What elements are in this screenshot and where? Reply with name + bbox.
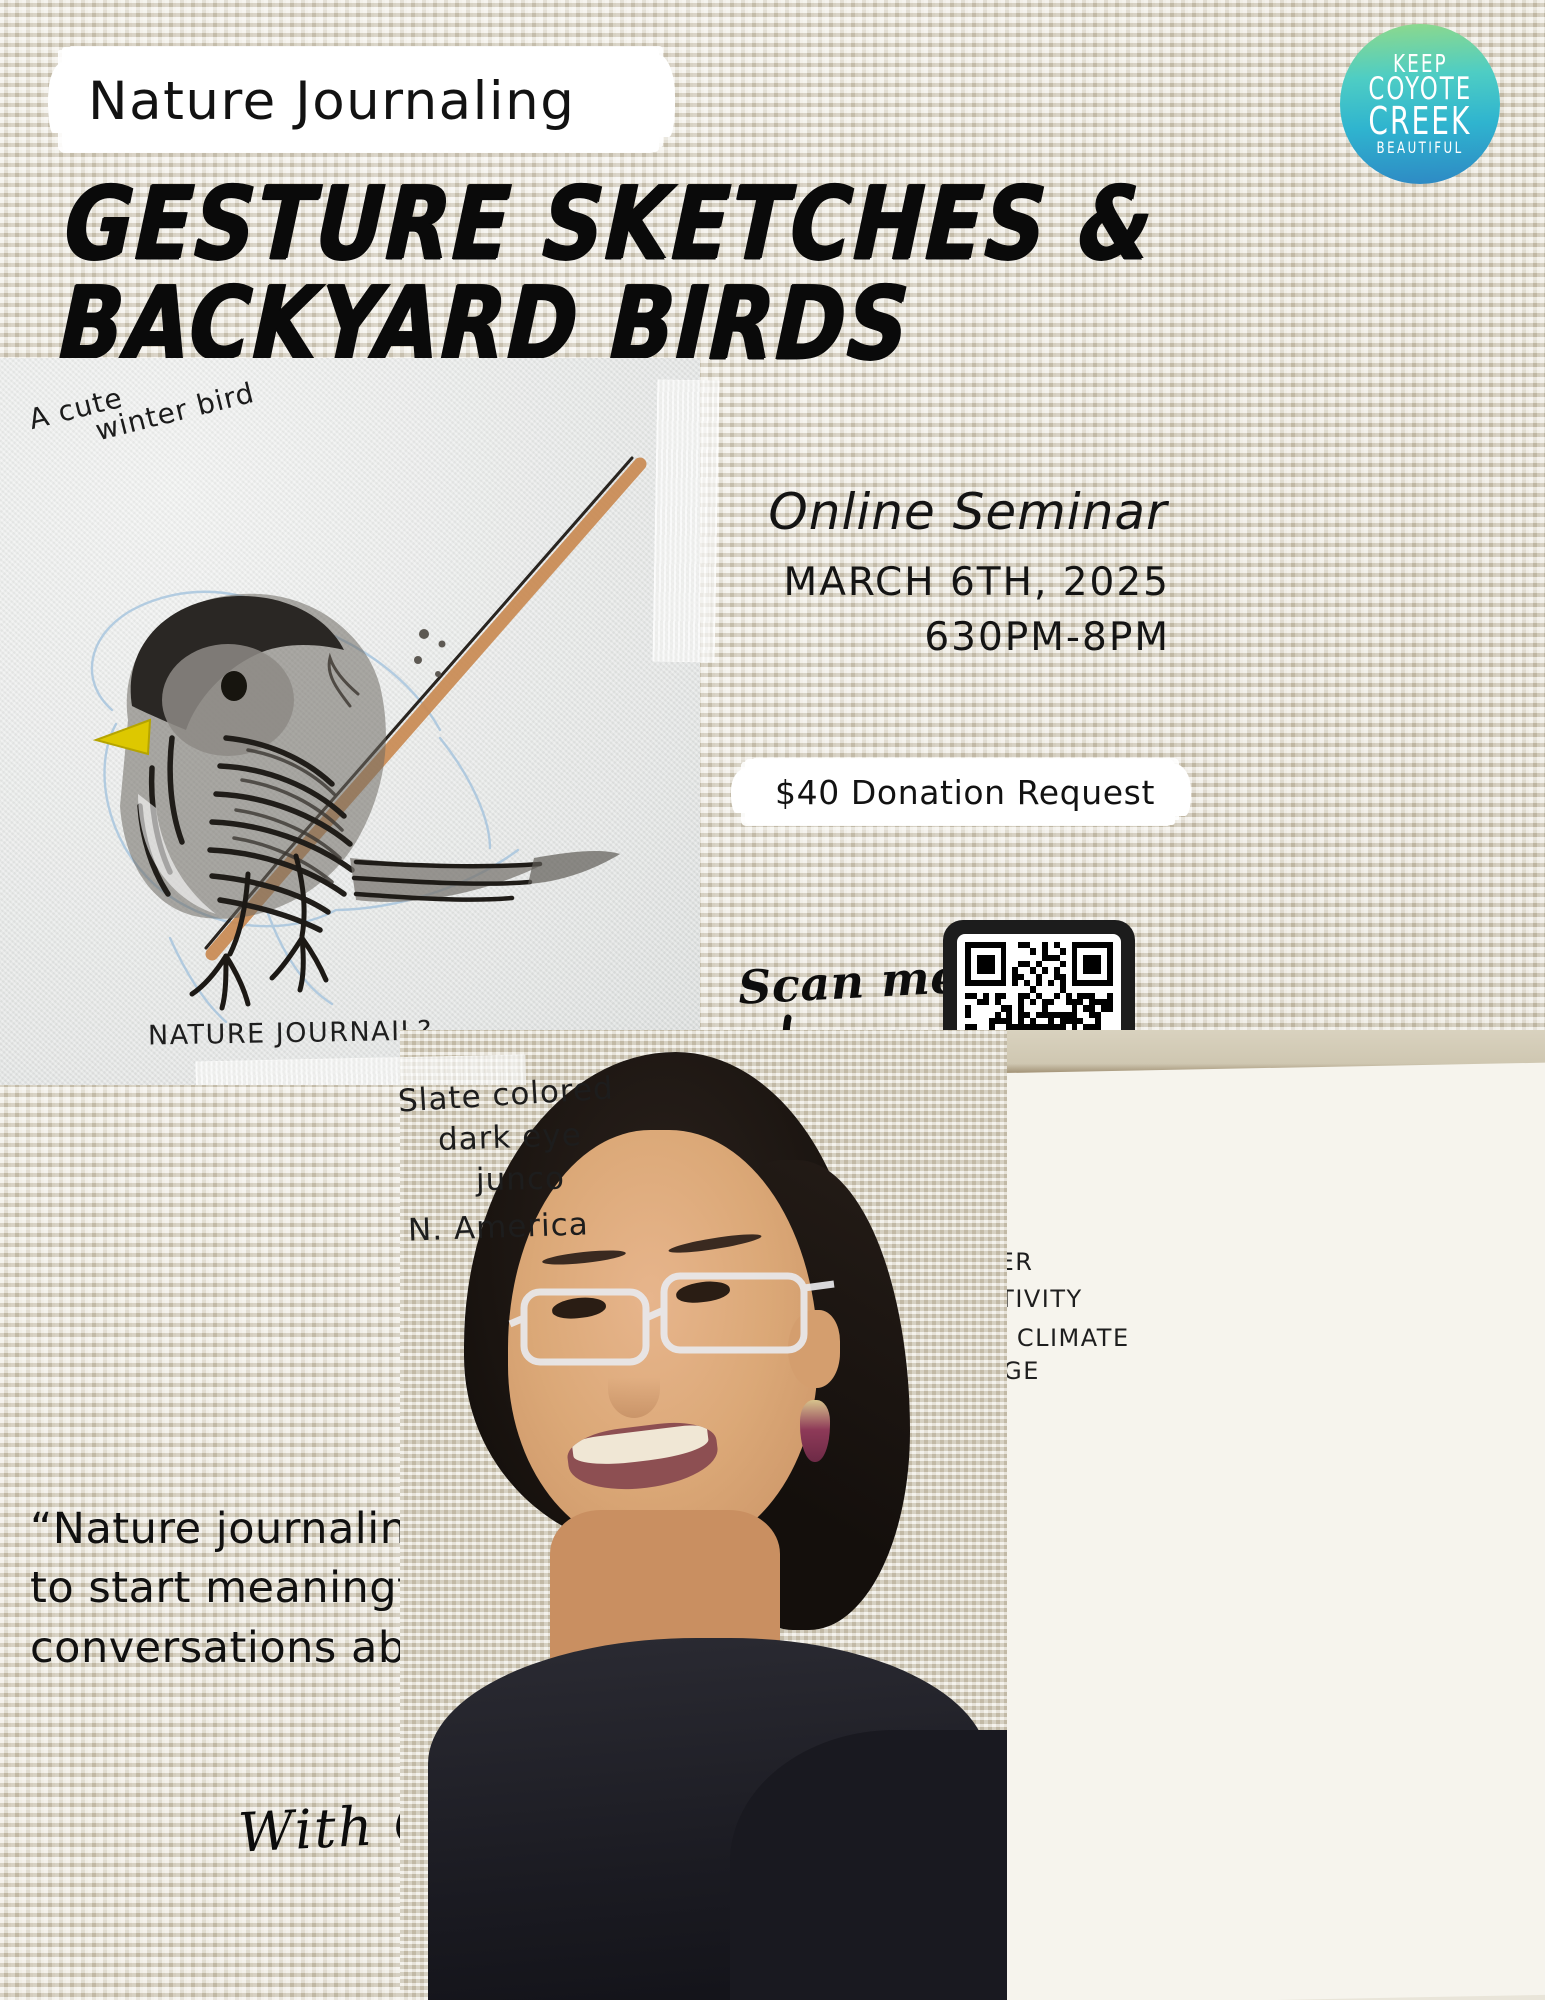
bird-sketch-photo: [0, 358, 700, 1085]
caption-line-4: N. America: [407, 1203, 614, 1252]
headline-line-1: GESTURE SKETCHES &: [63, 174, 1228, 274]
organization-logo[interactable]: KEEP COYOTE CREEK BEAUTIFUL: [1340, 24, 1500, 184]
event-date: MARCH 6TH, 2025: [740, 560, 1170, 605]
eyeglasses-icon: [508, 1262, 838, 1374]
caption-line-2: dark eye: [437, 1114, 614, 1162]
junco-illustration: [20, 438, 680, 1058]
caption-line-3: junco: [476, 1157, 614, 1201]
scan-me-label: Scan me: [737, 949, 961, 1015]
logo-line-3: CREEK: [1368, 104, 1471, 139]
event-time: 630PM-8PM: [740, 615, 1170, 660]
event-format: Online Seminar: [768, 483, 1168, 541]
nose: [608, 1360, 660, 1418]
page-title: GESTURE SKETCHES & BACKYARD BIRDS: [57, 174, 1228, 374]
journal-heading: NATURE JOURNAIL?: [148, 1016, 433, 1052]
logo-line-4: BEAUTIFUL: [1376, 141, 1463, 156]
eyebrow-title: Nature Journaling: [88, 62, 648, 140]
washi-tape-right: [653, 379, 720, 662]
poster-canvas: Nature Journaling GESTURE SKETCHES & BAC…: [0, 0, 1545, 2000]
sketch-species-caption: Slate colored dark eye junco N. America: [398, 1075, 614, 1248]
donation-amount: $40 Donation Request: [760, 760, 1170, 824]
